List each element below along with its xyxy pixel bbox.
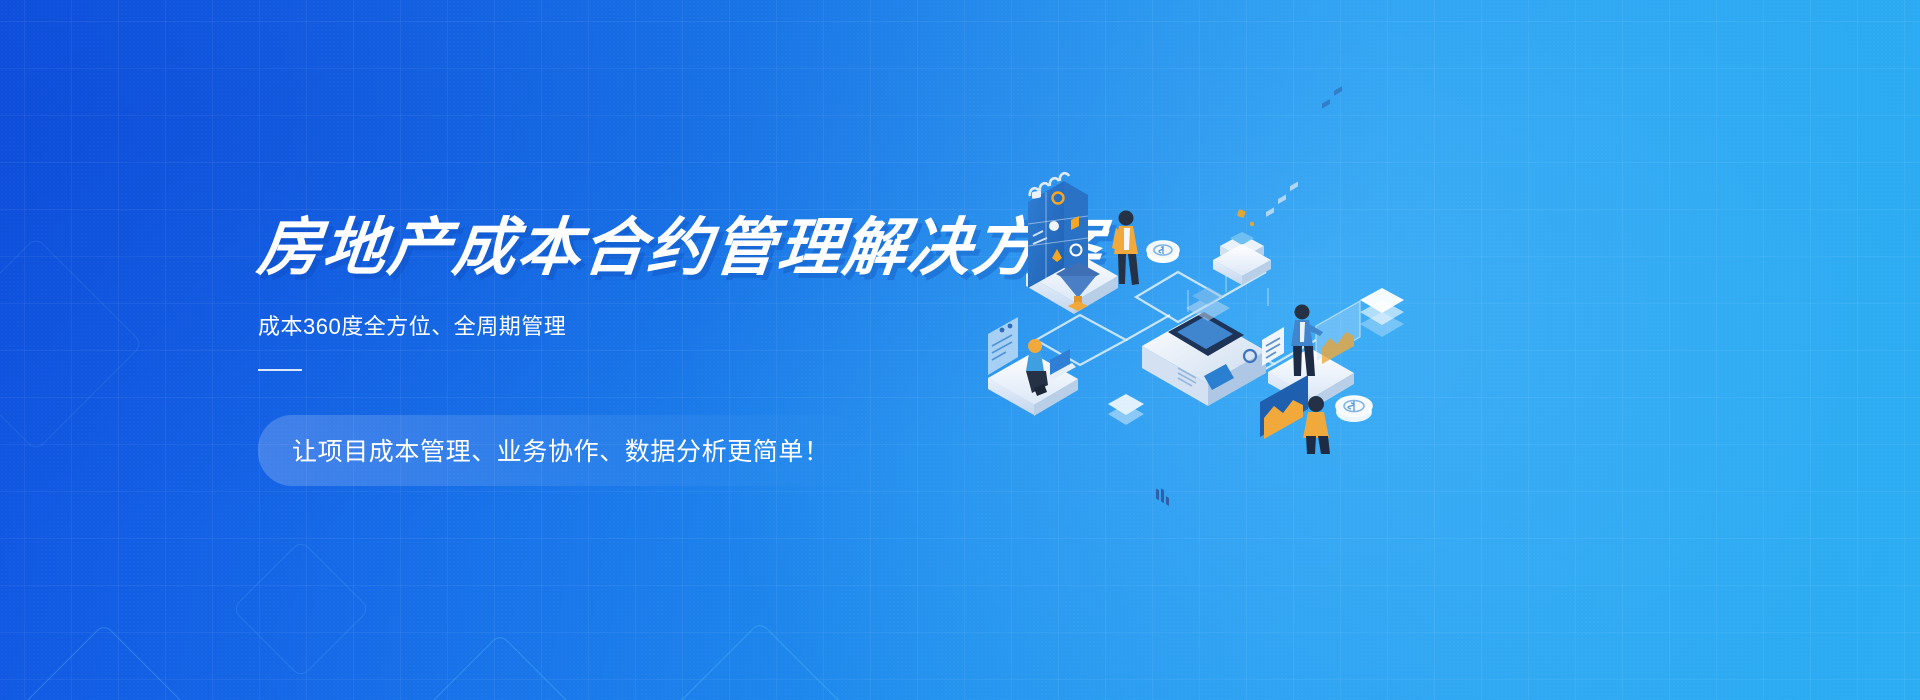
hero-banner: 房地产成本合约管理解决方案 成本360度全方位、全周期管理 让项目成本管理、业务… xyxy=(0,0,1920,700)
divider-rule xyxy=(258,369,302,371)
dollar-coin-icon xyxy=(1336,396,1372,422)
isometric-illustration xyxy=(930,150,1400,450)
stacked-layers-icon xyxy=(1213,209,1271,285)
person-standing-icon xyxy=(1112,211,1139,286)
stacked-layers-icon xyxy=(1108,394,1144,425)
cta-pill[interactable]: 让项目成本管理、业务协作、数据分析更简单！ xyxy=(258,415,864,486)
banner-headline: 房地产成本合约管理解决方案 xyxy=(254,214,1021,282)
banner-subtitle: 成本360度全方位、全周期管理 xyxy=(258,312,1018,343)
dollar-coin-icon xyxy=(1147,241,1179,263)
banner-copy-block: 房地产成本合约管理解决方案 成本360度全方位、全周期管理 让项目成本管理、业务… xyxy=(258,214,1018,486)
stacked-layers-icon xyxy=(1360,288,1404,337)
gear-icon xyxy=(1049,221,1059,231)
